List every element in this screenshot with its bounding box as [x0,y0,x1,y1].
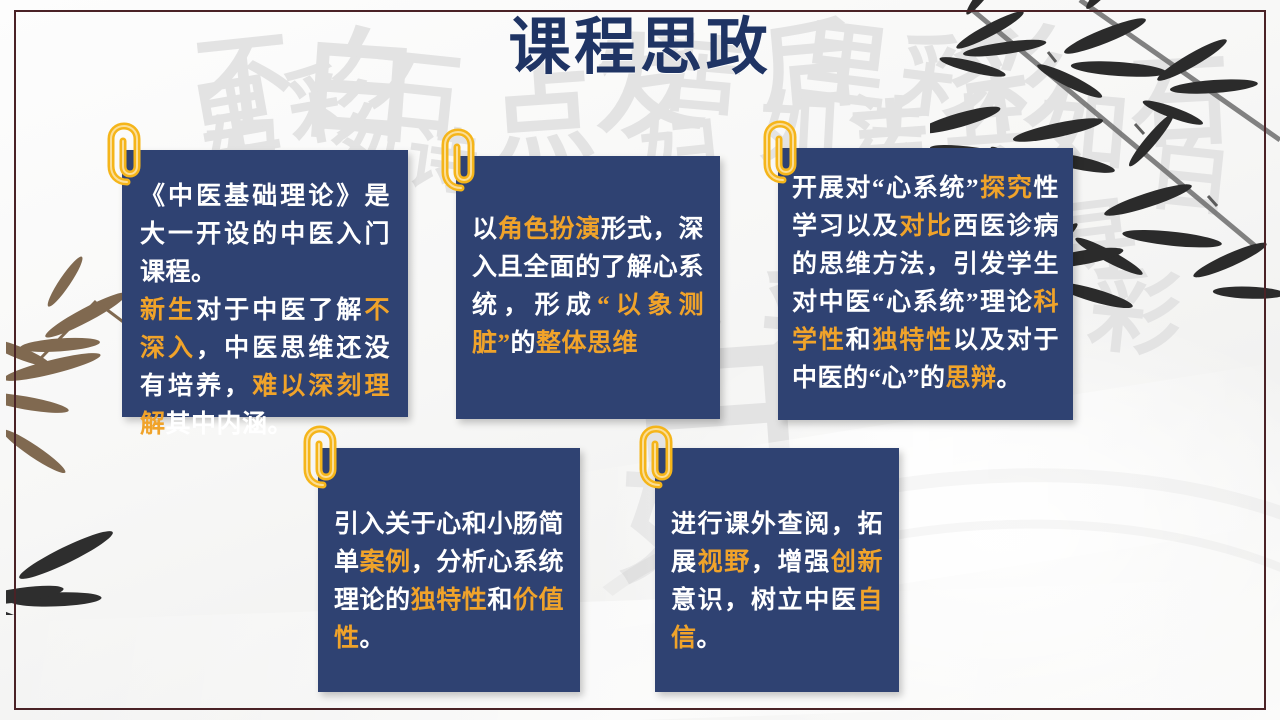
highlighted-text: 整体思维 [536,330,638,357]
slide-canvas: 不 白 里彩 石 点 妇 匆诗 发 苦 后 如法 妇 里彩 吉共 彩 如 石 白… [0,0,1280,720]
info-card-5[interactable]: 进行课外查阅，拓展视野，增强创新意识，树立中医自信。 [655,448,899,692]
highlighted-text: 独特性 [872,327,952,354]
body-text: 其中内涵。 [166,411,294,438]
paperclip-icon [760,120,806,184]
bamboo-bottom-left-extra [0,630,120,720]
paperclip-icon [300,425,346,489]
highlighted-text: 视野 [698,549,751,576]
highlighted-text: 独特性 [411,587,488,614]
info-card-1[interactable]: 《中医基础理论》是大一开设的中医入门课程。新生对于中医了解不深入，中医思维还没有… [122,150,408,417]
highlighted-text: 角色扮演 [498,216,601,243]
paperclip-icon [636,425,682,489]
body-text: 以 [472,216,498,243]
info-card-3[interactable]: 开展对“心系统”探究性学习以及对比西医诊病的思维方法，引发学生对中医“心系统”理… [778,148,1073,420]
body-text: 和 [487,587,513,614]
highlighted-text: 创新 [831,549,883,576]
card-5-text: 进行课外查阅，拓展视野，增强创新意识，树立中医自信。 [655,448,899,658]
body-text: 对于中医了解 [196,297,364,324]
info-card-4[interactable]: 引入关于心和小肠简单案例，分析心系统理论的独特性和价值性。 [318,448,580,692]
paperclip-icon [104,122,150,186]
body-text: 和 [846,327,873,354]
highlighted-text: 思辩 [946,365,997,392]
card-3-text: 开展对“心系统”探究性学习以及对比西医诊病的思维方法，引发学生对中医“心系统”理… [778,148,1073,398]
body-text: 《中医基础理论》是大一开设的中医入门课程。 [140,183,390,286]
body-text: 的 [511,330,537,357]
body-text: 。 [360,625,386,652]
highlighted-text: 探究 [979,175,1033,202]
page-title: 课程思政 [0,14,1280,82]
body-text: ，增强 [751,549,831,576]
body-text: 。 [997,365,1023,392]
info-card-2[interactable]: 以角色扮演形式，深入且全面的了解心系统，形成“以象测脏”的整体思维 [456,156,720,419]
card-2-text: 以角色扮演形式，深入且全面的了解心系统，形成“以象测脏”的整体思维 [456,156,720,363]
highlighted-text: 案例 [360,549,411,576]
body-text: 。 [697,625,723,652]
highlighted-text: 新生 [140,297,196,324]
card-4-text: 引入关于心和小肠简单案例，分析心系统理论的独特性和价值性。 [318,448,580,658]
highlighted-text: 对比 [899,213,953,240]
body-text: 意识，树立中医 [671,587,857,614]
paperclip-icon [438,128,484,192]
card-1-text: 《中医基础理论》是大一开设的中医入门课程。新生对于中医了解不深入，中医思维还没有… [122,150,408,444]
body-text: 开展对“心系统” [792,175,979,202]
